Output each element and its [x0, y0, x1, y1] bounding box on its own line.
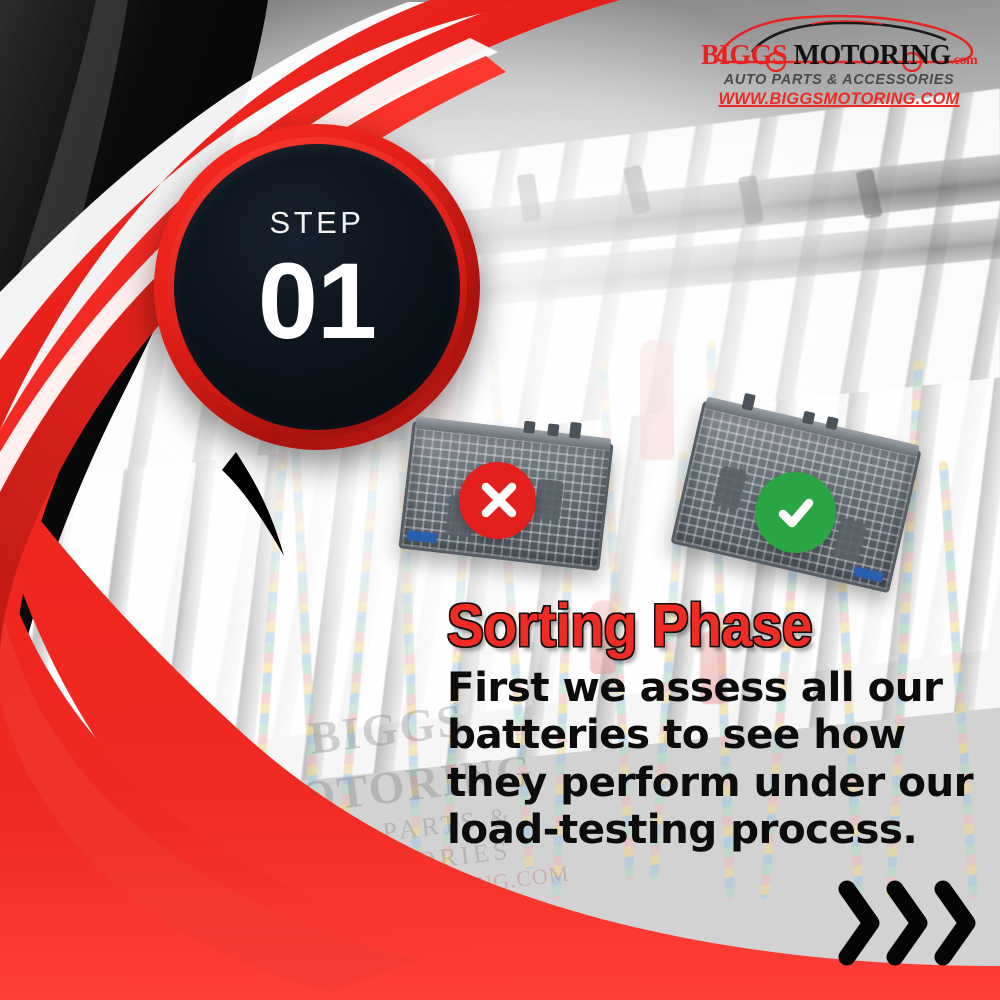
- content-block: Sorting Phase First we assess all our ba…: [447, 596, 917, 854]
- module-terminal-nub: [523, 421, 535, 434]
- content-body-line: they perform under our: [447, 759, 917, 806]
- brand-tagline: AUTO PARTS & ACCESSORIES: [700, 72, 978, 88]
- content-title: Sorting Phase: [447, 596, 879, 656]
- brand-name-part1: BIGGS: [701, 40, 787, 71]
- content-body: First we assess all our batteries to see…: [447, 664, 917, 854]
- brand-website[interactable]: WWW.BIGGSMOTORING.COM: [700, 90, 978, 109]
- brand-logo: BIGGS MOTORING.com AUTO PARTS & ACCESSOR…: [700, 18, 978, 109]
- chevron-right-icon: [934, 880, 978, 966]
- content-body-line: First we assess all our: [447, 664, 917, 711]
- content-body-line: batteries to see how: [447, 711, 917, 758]
- step-badge-core: STEP 01: [174, 144, 460, 430]
- module-terminal-nub: [569, 422, 582, 439]
- step-number: 01: [258, 249, 376, 353]
- triple-chevron-right-icon[interactable]: [838, 880, 978, 966]
- module-side-tab: [832, 518, 866, 563]
- step-badge: STEP 01: [154, 124, 480, 450]
- chevron-right-icon: [838, 880, 882, 966]
- content-body-line: load-testing process.: [447, 806, 917, 853]
- cross-mark-icon: [459, 462, 536, 539]
- brand-name: BIGGS MOTORING.com: [700, 42, 978, 70]
- module-blue-connector: [853, 566, 884, 582]
- step-label: STEP: [270, 205, 365, 241]
- poster-canvas: BIGGS MOTORING AUTO PARTS & ACCESSORIES …: [0, 0, 1000, 1000]
- module-side-tab: [534, 479, 564, 522]
- brand-name-suffix: .com: [951, 53, 977, 68]
- brand-name-part2: MOTORING: [794, 40, 951, 71]
- module-blue-connector: [406, 530, 437, 543]
- check-mark-icon: [755, 472, 836, 553]
- module-terminal-nub: [547, 423, 559, 436]
- module-side-tab: [713, 466, 747, 511]
- chevron-right-icon: [886, 880, 930, 966]
